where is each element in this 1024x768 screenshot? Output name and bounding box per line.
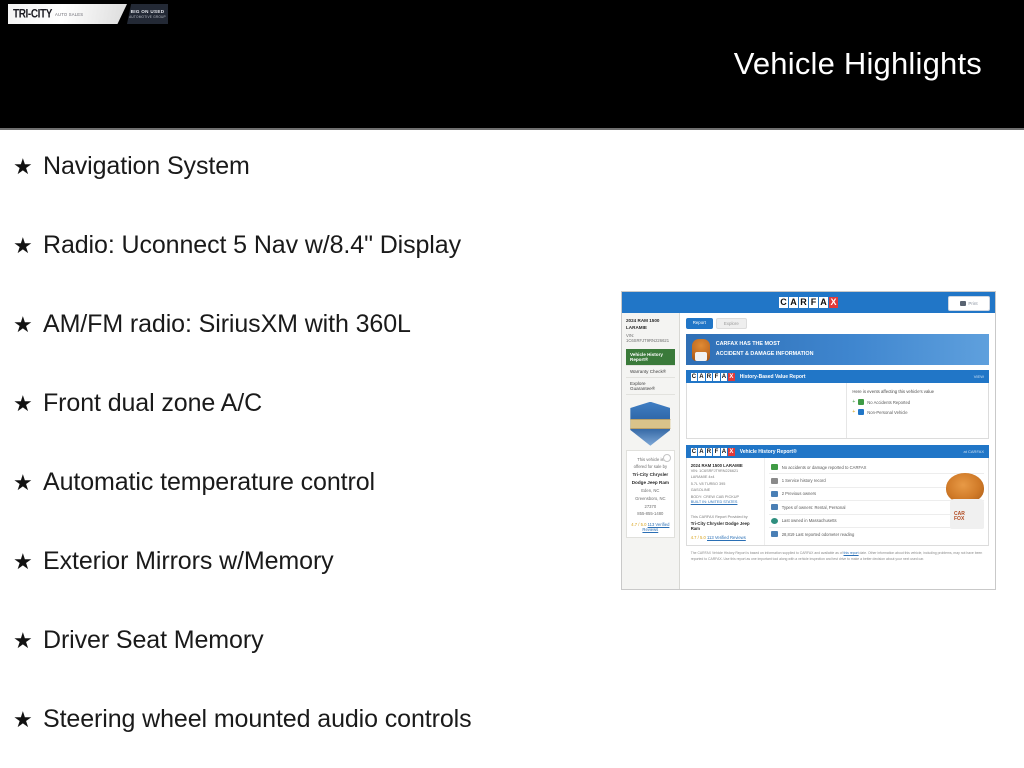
- status-chip-icon: [858, 409, 864, 415]
- sidebar-item-warranty-check[interactable]: Warranty Check®: [626, 366, 675, 378]
- check-icon: [771, 464, 778, 470]
- fox-shirt-text: CARFOX: [954, 512, 965, 523]
- history-value-section: C A R F A X History-Based Value Report V…: [686, 370, 989, 439]
- feature-label: Front dual zone A/C: [43, 389, 262, 418]
- star-icon: ★: [13, 393, 43, 415]
- dealer-shield-badge-icon: [630, 402, 670, 446]
- carfax-letter: A: [789, 297, 798, 308]
- tab-explore[interactable]: Explore: [716, 318, 747, 329]
- logo-badge-block: BIG ON USED AUTOMOTIVE GROUP: [127, 4, 168, 24]
- print-label: Print: [968, 301, 977, 306]
- dealer-rating: 4.7 / 5.0 113 Verified Reviews: [631, 522, 670, 532]
- value-factor-label: No Accidents Reported: [867, 400, 910, 405]
- carfax-logo-icon: C A R F A X: [691, 448, 735, 456]
- carfax-letter: C: [691, 373, 698, 381]
- carfax-letter: R: [799, 297, 808, 308]
- plus-icon: +: [852, 409, 855, 415]
- carfax-letter: R: [706, 373, 713, 381]
- history-item-label: 28,819 Last reported odometer reading: [782, 532, 855, 537]
- list-item: ★ Exterior Mirrors w/Memory: [0, 547, 610, 626]
- star-icon: ★: [13, 156, 43, 178]
- vehicle-highlights-list: ★ Navigation System ★ Radio: Uconnect 5 …: [0, 152, 610, 768]
- vhr-detail-link[interactable]: BUILT IN: UNITED STATES: [691, 500, 760, 504]
- carfax-body: 2024 RAM 1500 LARAMIE VIN: 1C6SRFJT9RN22…: [622, 313, 995, 590]
- carfax-disclaimer: The CARFAX Vehicle History Report is bas…: [686, 546, 989, 562]
- vehicle-history-header: C A R F A X Vehicle History Report® at C…: [686, 445, 989, 458]
- print-button[interactable]: Print: [948, 296, 990, 311]
- history-item-label: Types of owners: Rental, Personal: [782, 505, 846, 510]
- list-item: ★ Navigation System: [0, 152, 610, 231]
- history-value-body: Here is events affecting this vehicle's …: [686, 383, 989, 439]
- list-item: ★ Automatic temperature control: [0, 468, 610, 547]
- list-item: ★ Radio: Uconnect 5 Nav w/8.4" Display: [0, 231, 610, 310]
- shield-band: [628, 419, 672, 429]
- vhr-source-rating-row: 4.7 / 5.0 113 Verified Reviews: [691, 535, 760, 540]
- vehicle-spec-column: 2024 RAM 1500 LARAMIE VIN: 1C6SRFJT9RN22…: [687, 458, 765, 545]
- history-item-label: 1 Service history record: [782, 478, 826, 483]
- carfax-logo-icon: C A R F A X: [691, 373, 735, 381]
- dealer-name: Tri-City Chrysler Dodge Jeep Ram: [631, 471, 670, 488]
- logo-name: TRI-CITY: [13, 8, 52, 21]
- carfax-letter: F: [809, 297, 818, 308]
- dealer-info-card: This vehicle is offered for sale by Tri-…: [626, 450, 675, 538]
- star-icon: ★: [13, 630, 43, 652]
- value-factor-row: + Non-Personal Vehicle: [852, 409, 983, 415]
- feature-label: Driver Seat Memory: [43, 626, 263, 655]
- feature-label: AM/FM radio: SiriusXM with 360L: [43, 310, 411, 339]
- history-item-label: 2 Previous owners: [782, 491, 816, 496]
- disclaimer-link[interactable]: this report: [844, 551, 859, 555]
- carfax-tabs: Report Explore: [686, 318, 989, 329]
- carfax-logo-icon: C A R F A X: [779, 297, 838, 308]
- promo-line-1: CARFAX HAS THE MOST: [716, 340, 814, 349]
- sidebar-vehicle-title: 2024 RAM 1500 LARAMIE: [626, 318, 675, 332]
- carfax-letter: R: [706, 448, 713, 456]
- vhr-source-name: Tri-City Chrysler Dodge Jeep Ram: [691, 521, 760, 531]
- carfax-sidebar: 2024 RAM 1500 LARAMIE VIN: 1C6SRFJT9RN22…: [622, 313, 680, 590]
- list-item: ★ Driver Seat Memory: [0, 626, 610, 705]
- dealer-reviews-link[interactable]: 113 Verified Reviews: [642, 522, 669, 532]
- list-item: ★ AM/FM radio: SiriusXM with 360L: [0, 310, 610, 389]
- feature-label: Automatic temperature control: [43, 468, 375, 497]
- history-item: 28,819 Last reported odometer reading: [769, 528, 984, 540]
- history-value-factors: Here is events affecting this vehicle's …: [847, 383, 988, 438]
- feature-label: Exterior Mirrors w/Memory: [43, 547, 334, 576]
- star-icon: ★: [13, 551, 43, 573]
- status-chip-icon: [858, 399, 864, 405]
- carfax-letter: X: [728, 373, 735, 381]
- carfax-letter: A: [721, 373, 728, 381]
- location-icon: [771, 518, 778, 524]
- odometer-icon: [771, 531, 778, 537]
- promo-text-block: CARFAX HAS THE MOST ACCIDENT & DAMAGE IN…: [716, 340, 814, 358]
- vhr-source-reviews-link[interactable]: 113 Verified Reviews: [707, 535, 746, 540]
- plus-icon: +: [852, 399, 855, 405]
- slide-header: TRI-CITY AUTO SALES BIG ON USED AUTOMOTI…: [0, 0, 1024, 130]
- feature-label: Navigation System: [43, 152, 250, 181]
- dealer-phone: 855-855-1480: [631, 510, 670, 518]
- carfax-letter: A: [698, 373, 705, 381]
- carfax-promo-banner: CARFAX HAS THE MOST ACCIDENT & DAMAGE IN…: [686, 334, 989, 365]
- logo-wordmark-block: TRI-CITY AUTO SALES: [8, 4, 127, 24]
- feature-label: Radio: Uconnect 5 Nav w/8.4" Display: [43, 231, 461, 260]
- history-value-subtitle: Here is events affecting this vehicle's …: [852, 389, 983, 394]
- carfax-letter: F: [713, 373, 720, 381]
- carfax-letter: A: [819, 297, 828, 308]
- promo-line-2: ACCIDENT & DAMAGE INFORMATION: [716, 350, 814, 359]
- carfax-report-image[interactable]: C A R F A X Print 2024 RAM 1500 LARAMIE …: [621, 291, 996, 590]
- logo-badge-top: BIG ON USED: [131, 9, 165, 14]
- carfax-letter: C: [779, 297, 788, 308]
- tab-report[interactable]: Report: [686, 318, 713, 329]
- carfax-topbar: C A R F A X Print: [622, 292, 995, 313]
- star-icon: ★: [13, 314, 43, 336]
- wrench-icon: [771, 478, 778, 484]
- vehicle-history-body: 2024 RAM 1500 LARAMIE VIN: 1C6SRFJT9RN22…: [686, 458, 989, 546]
- list-item: ★ Steering wheel mounted audio controls: [0, 705, 610, 768]
- logo-subtitle: AUTO SALES: [55, 11, 83, 17]
- vhr-source-rating: 4.7 / 5.0: [691, 535, 706, 540]
- logo-badge-bottom: AUTOMOTIVE GROUP: [129, 15, 166, 19]
- carfax-letter: X: [829, 297, 838, 308]
- value-factor-label: Non-Personal Vehicle: [867, 410, 907, 415]
- shield-icon: [630, 402, 670, 446]
- fox-mascot-icon: [692, 339, 710, 361]
- page-title: Vehicle Highlights: [734, 46, 982, 82]
- carfax-letter: X: [728, 448, 735, 456]
- history-value-header: C A R F A X History-Based Value Report V…: [686, 370, 989, 383]
- carfax-letter: F: [713, 448, 720, 456]
- carfax-fox-mascot-icon: CARFOX: [942, 473, 988, 529]
- history-item-label: Last owned in Massachusetts: [782, 518, 837, 523]
- carfax-main: Report Explore CARFAX HAS THE MOST ACCID…: [680, 313, 995, 590]
- history-value-title: History-Based Value Report: [740, 374, 806, 380]
- history-item-label: No accidents or damage reported to CARFA…: [782, 465, 867, 470]
- slide-root: TRI-CITY AUTO SALES BIG ON USED AUTOMOTI…: [0, 0, 1024, 768]
- printer-icon: [960, 301, 966, 306]
- carfax-letter: A: [698, 448, 705, 456]
- history-value-chart-area: [687, 383, 848, 438]
- dealer-state: Greensboro, NC 27370: [631, 495, 670, 510]
- sidebar-item-vehicle-history-report[interactable]: Vehicle History Report®: [626, 349, 675, 366]
- sidebar-item-explore-guarantee[interactable]: Explore Guarantee®: [626, 378, 675, 395]
- dealer-city: Eden, NC: [631, 487, 670, 495]
- owners-icon: [771, 491, 778, 497]
- star-icon: ★: [13, 709, 43, 731]
- star-icon: ★: [13, 235, 43, 257]
- vehicle-history-action[interactable]: at CARFAX: [964, 449, 984, 454]
- vehicle-history-section: C A R F A X Vehicle History Report® at C…: [686, 445, 989, 562]
- star-icon: ★: [13, 472, 43, 494]
- close-icon[interactable]: [663, 454, 671, 462]
- dealer-logo[interactable]: TRI-CITY AUTO SALES BIG ON USED AUTOMOTI…: [8, 4, 168, 24]
- list-item: ★ Front dual zone A/C: [0, 389, 610, 468]
- disclaimer-before: The CARFAX Vehicle History Report is bas…: [691, 551, 844, 555]
- feature-label: Steering wheel mounted audio controls: [43, 705, 472, 734]
- carfax-letter: A: [721, 448, 728, 456]
- car-icon: [771, 504, 778, 510]
- sidebar-vin: VIN: 1C6SRFJT9RN226621: [626, 333, 675, 343]
- vehicle-history-title: Vehicle History Report®: [740, 449, 797, 455]
- history-value-action[interactable]: VIEW: [974, 374, 984, 379]
- carfax-letter: C: [691, 448, 698, 456]
- value-factor-row: + No Accidents Reported: [852, 399, 983, 405]
